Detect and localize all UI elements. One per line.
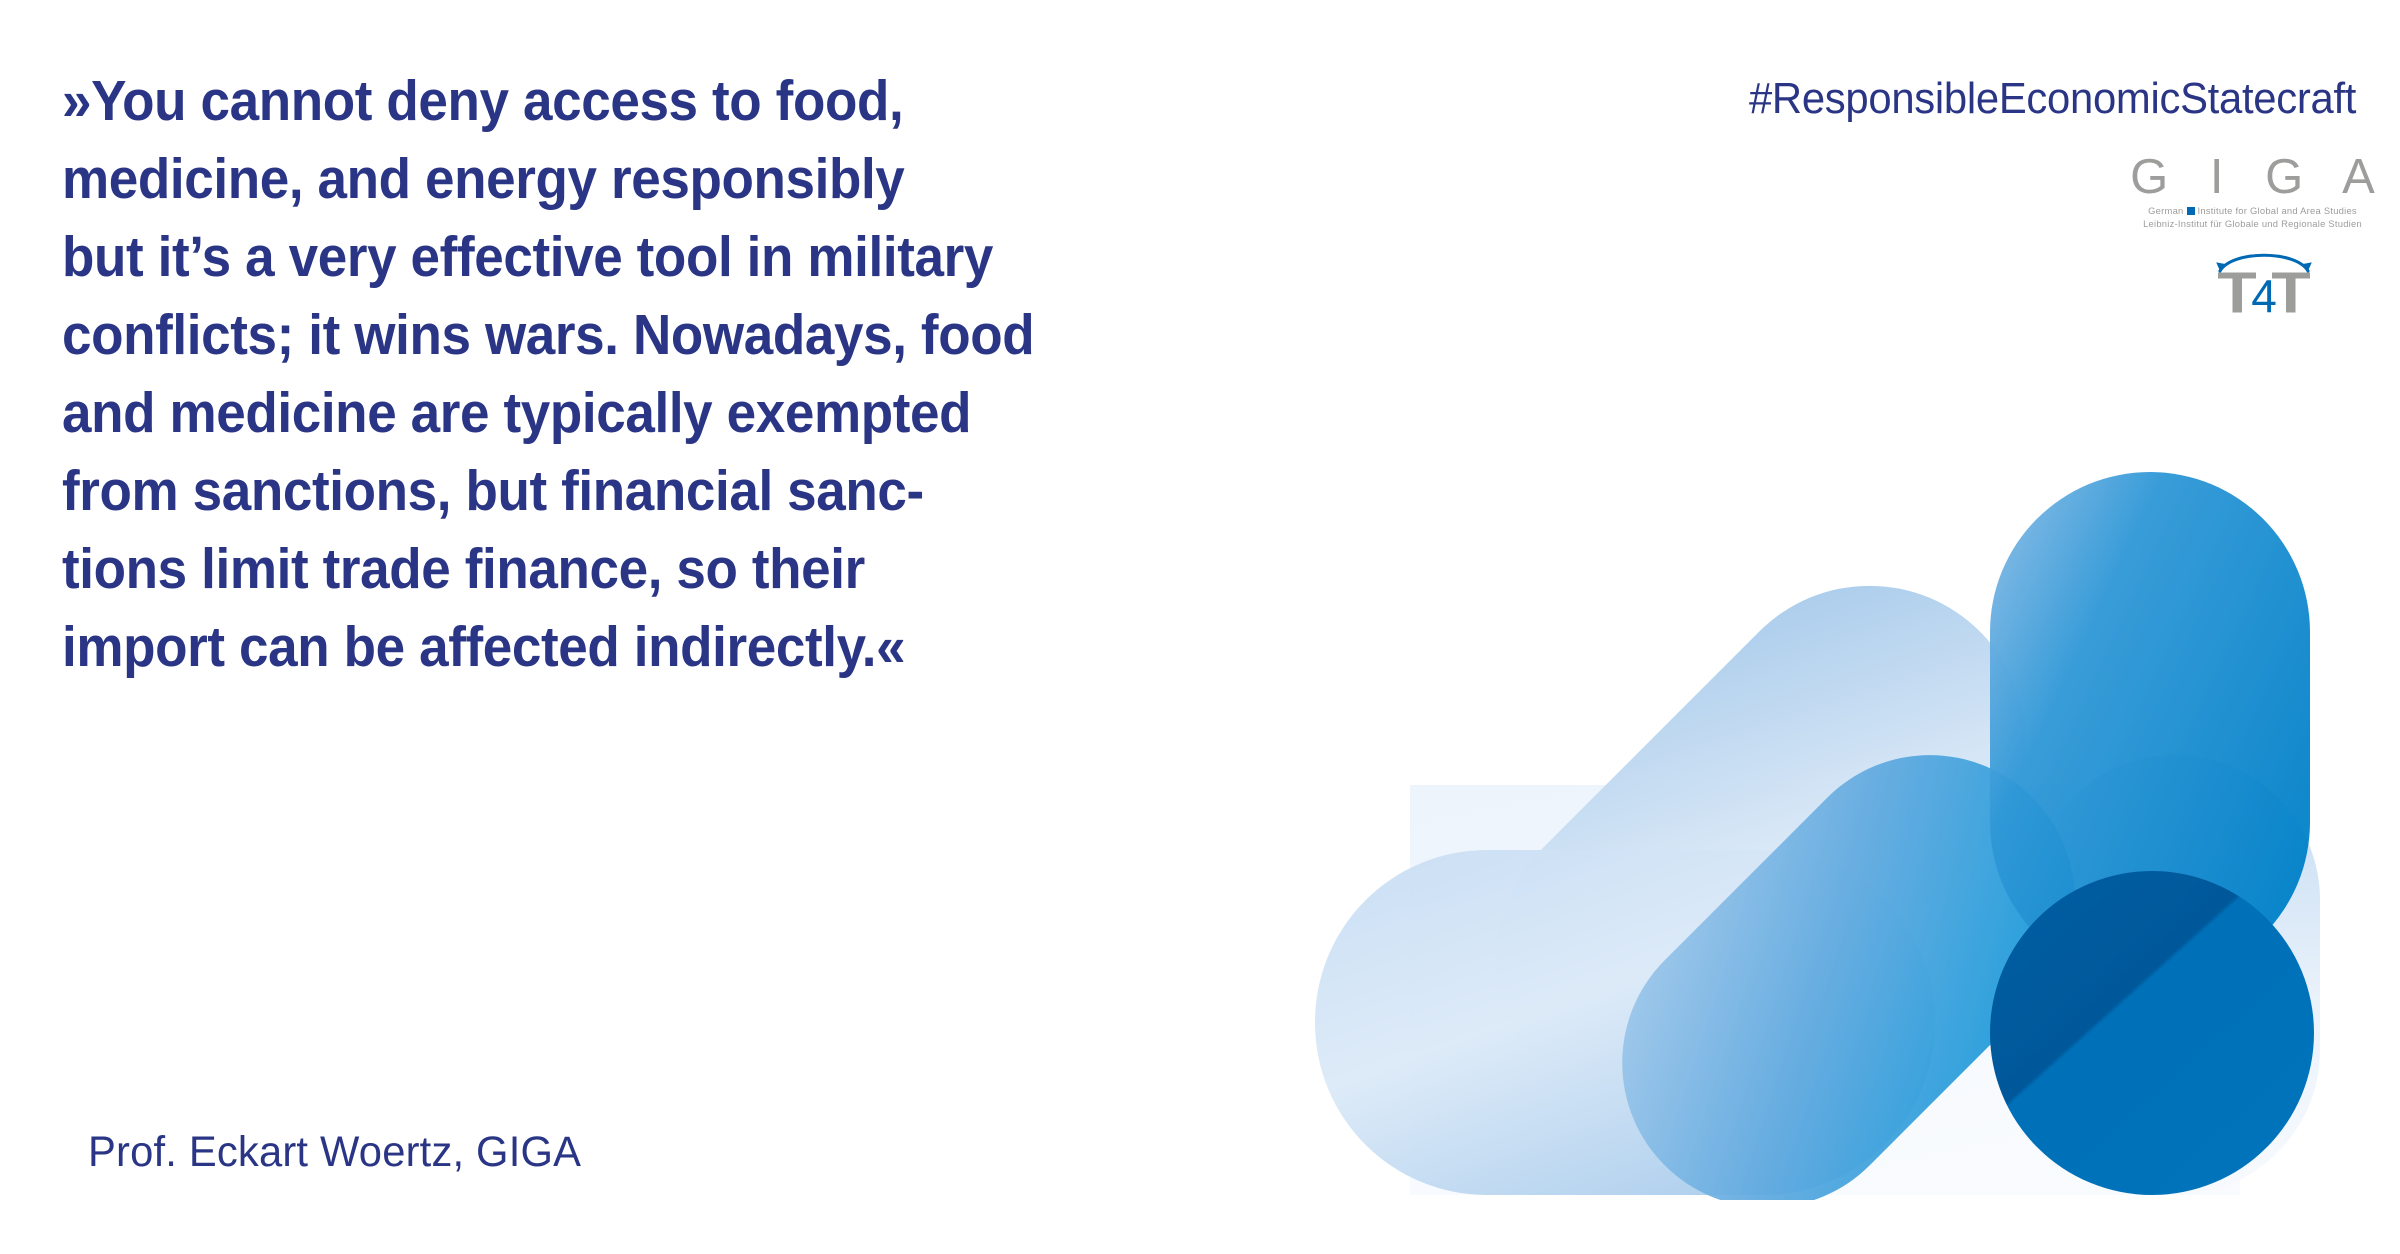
decorative-capsules-graphic (1290, 455, 2370, 1200)
t4t-logo-svg: 4 (2204, 244, 2324, 314)
quote-attribution: Prof. Eckart Woertz, GIGA (88, 1128, 581, 1177)
t4t-logo: 4 (2204, 244, 2324, 314)
t4t-digit-four: 4 (2251, 270, 2277, 314)
t4t-right-t-glyph (2272, 273, 2310, 313)
quote-text: »You cannot deny access to food, medicin… (62, 62, 1225, 686)
giga-logo: G I G A German Institute for Global and … (2145, 152, 2360, 230)
t4t-arc-icon (2216, 255, 2312, 271)
giga-subtitle-german-word: German (2148, 205, 2183, 218)
campaign-hashtag: #ResponsibleEconomicStatecraft (1749, 74, 2356, 124)
giga-subtitle-english: German Institute for Global and Area Stu… (2148, 205, 2357, 218)
giga-subtitle-german-text: Leibniz-Institut für Globale und Regiona… (2143, 218, 2362, 231)
quote-block: »You cannot deny access to food, medicin… (62, 62, 1312, 686)
giga-subtitle-german: Leibniz-Institut für Globale und Regiona… (2143, 218, 2362, 231)
decorative-capsules-svg (1290, 455, 2370, 1200)
giga-wordmark: G I G A (2116, 152, 2389, 202)
logo-stack: G I G A German Institute for Global and … (2100, 152, 2360, 314)
giga-subtitle-english-rest: Institute for Global and Area Studies (2198, 205, 2357, 218)
giga-square-icon (2187, 207, 2195, 215)
capsule-circle-deep (1990, 871, 2314, 1195)
